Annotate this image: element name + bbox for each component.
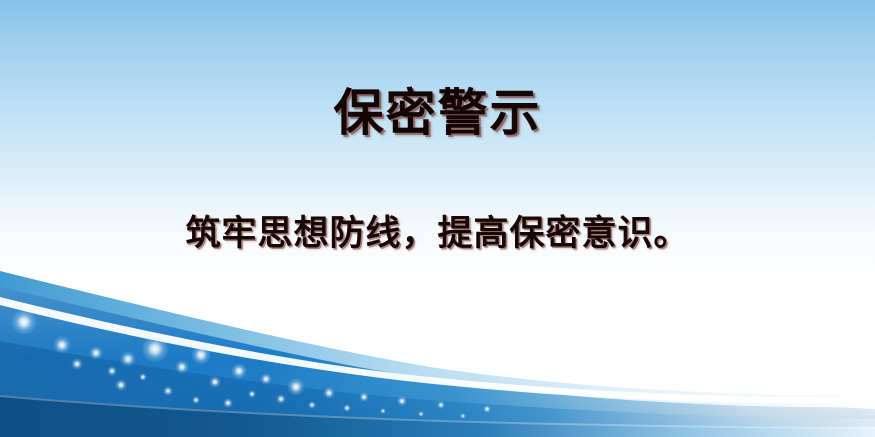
poster-subtitle: 筑牢思想防线，提高保密意识。 xyxy=(0,212,875,256)
poster-title: 保密警示 xyxy=(0,84,875,142)
text-block: 保密警示 筑牢思想防线，提高保密意识。 xyxy=(0,0,875,300)
secrecy-warning-poster: 保密警示 筑牢思想防线，提高保密意识。 xyxy=(0,0,875,437)
